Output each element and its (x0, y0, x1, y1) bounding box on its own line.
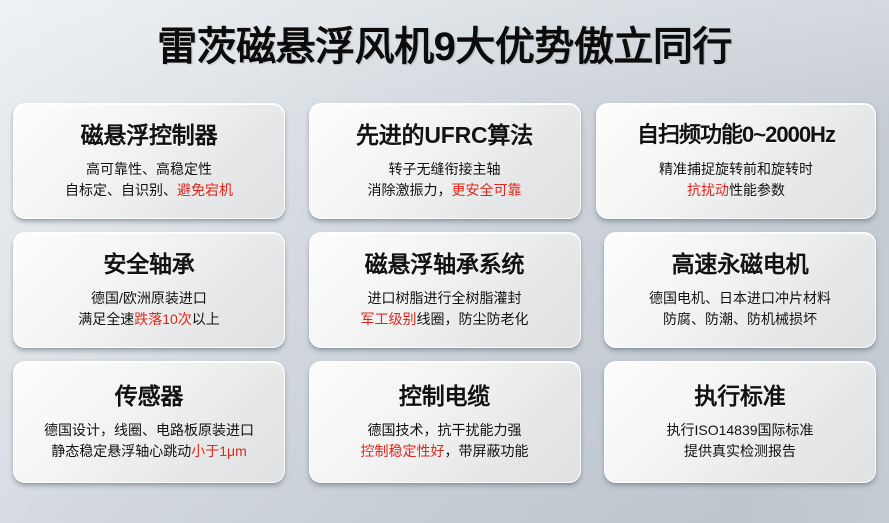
card-description-line: 高可靠性、高稳定性 (65, 159, 233, 180)
card-description-line: 德国电机、日本进口冲片材料 (649, 288, 831, 309)
card-title: 自扫频功能0~2000Hz (637, 120, 835, 150)
card-title: 先进的UFRC算法 (356, 120, 533, 150)
card-description-line: 控制稳定性好，带屏蔽功能 (361, 441, 529, 462)
card-title: 执行标准 (694, 381, 785, 411)
body-text: 性能参数 (729, 182, 785, 198)
body-text: 精准捕捉旋转前和旋转时 (659, 161, 813, 177)
card-description-line: 消除激振力，更安全可靠 (368, 180, 522, 201)
card-description: 高可靠性、高稳定性自标定、自识别、避免宕机 (65, 159, 233, 201)
body-text: 防腐、防潮、防机械损坏 (663, 311, 817, 327)
highlight-text: 抗扰动 (687, 182, 729, 198)
card-description: 执行ISO14839国际标准提供真实检测报告 (666, 420, 813, 462)
card-description: 精准捕捉旋转前和旋转时抗扰动性能参数 (659, 159, 813, 201)
card-title: 磁悬浮控制器 (81, 120, 218, 150)
highlight-text: 控制稳定性好 (361, 443, 445, 459)
card-description: 德国电机、日本进口冲片材料防腐、防潮、防机械损坏 (649, 288, 831, 330)
body-text: ，带屏蔽功能 (445, 443, 529, 459)
body-text: 德国电机、日本进口冲片材料 (649, 290, 831, 306)
advantage-card-control-cable: 控制电缆德国技术，抗干扰能力强控制稳定性好，带屏蔽功能 (309, 361, 581, 483)
advantage-card-auto-frequency-sweep: 自扫频功能0~2000Hz精准捕捉旋转前和旋转时抗扰动性能参数 (596, 103, 876, 219)
advantage-card-grid: 磁悬浮控制器高可靠性、高稳定性自标定、自识别、避免宕机先进的UFRC算法转子无缝… (13, 103, 879, 483)
body-text: 德国/欧洲原装进口 (91, 290, 207, 306)
card-description-line: 满足全速跌落10次以上 (78, 309, 220, 330)
body-text: 线圈，防尘防老化 (417, 311, 529, 327)
card-description-line: 进口树脂进行全树脂灌封 (361, 288, 529, 309)
body-text: 转子无缝衔接主轴 (389, 161, 501, 177)
body-text: 消除激振力， (368, 182, 452, 198)
advantage-card-safety-bearing: 安全轴承德国/欧洲原装进口满足全速跌落10次以上 (13, 232, 285, 348)
card-description-line: 转子无缝衔接主轴 (368, 159, 522, 180)
body-text: 静态稳定悬浮轴心跳动 (51, 443, 191, 459)
card-description-line: 防腐、防潮、防机械损坏 (649, 309, 831, 330)
card-description: 德国/欧洲原装进口满足全速跌落10次以上 (78, 288, 220, 330)
highlight-text: 更安全可靠 (452, 182, 522, 198)
card-title: 磁悬浮轴承系统 (365, 249, 525, 279)
highlight-text: 小于1μm (191, 443, 247, 459)
body-text: 进口树脂进行全树脂灌封 (368, 290, 522, 306)
body-text: 执行ISO14839国际标准 (666, 422, 813, 438)
card-description-line: 德国设计，线圈、电路板原装进口 (44, 420, 254, 441)
advantage-card-sensor: 传感器德国设计，线圈、电路板原装进口静态稳定悬浮轴心跳动小于1μm (13, 361, 285, 483)
highlight-text: 跌落10次 (134, 311, 192, 327)
advantage-card-magnetic-levitation-controller: 磁悬浮控制器高可靠性、高稳定性自标定、自识别、避免宕机 (13, 103, 285, 219)
advantage-card-high-speed-permanent-magnet-motor: 高速永磁电机德国电机、日本进口冲片材料防腐、防潮、防机械损坏 (604, 232, 876, 348)
body-text: 德国技术，抗干扰能力强 (368, 422, 522, 438)
highlight-text: 避免宕机 (177, 182, 233, 198)
body-text: 德国设计，线圈、电路板原装进口 (44, 422, 254, 438)
card-title: 安全轴承 (103, 249, 194, 279)
card-description: 德国技术，抗干扰能力强控制稳定性好，带屏蔽功能 (361, 420, 529, 462)
highlight-text: 军工级别 (361, 311, 417, 327)
card-title: 高速永磁电机 (672, 249, 809, 279)
body-text: 满足全速 (78, 311, 134, 327)
advantage-card-advanced-ufrc-algorithm: 先进的UFRC算法转子无缝衔接主轴消除激振力，更安全可靠 (309, 103, 581, 219)
card-description-line: 军工级别线圈，防尘防老化 (361, 309, 529, 330)
card-title: 传感器 (115, 381, 183, 411)
card-description-line: 精准捕捉旋转前和旋转时 (659, 159, 813, 180)
card-description: 转子无缝衔接主轴消除激振力，更安全可靠 (368, 159, 522, 201)
body-text: 高可靠性、高稳定性 (86, 161, 212, 177)
card-title: 控制电缆 (399, 381, 490, 411)
body-text: 以上 (192, 311, 220, 327)
card-description-line: 自标定、自识别、避免宕机 (65, 180, 233, 201)
card-description-line: 提供真实检测报告 (666, 441, 813, 462)
card-description-line: 德国/欧洲原装进口 (78, 288, 220, 309)
card-description-line: 静态稳定悬浮轴心跳动小于1μm (44, 441, 254, 462)
card-description-line: 德国技术，抗干扰能力强 (361, 420, 529, 441)
card-description-line: 抗扰动性能参数 (659, 180, 813, 201)
advantage-card-execution-standard: 执行标准执行ISO14839国际标准提供真实检测报告 (604, 361, 876, 483)
card-description-line: 执行ISO14839国际标准 (666, 420, 813, 441)
card-description: 进口树脂进行全树脂灌封军工级别线圈，防尘防老化 (361, 288, 529, 330)
advantages-poster: 雷茨磁悬浮风机9大优势傲立同行 磁悬浮控制器高可靠性、高稳定性自标定、自识别、避… (0, 0, 889, 523)
body-text: 自标定、自识别、 (65, 182, 177, 198)
page-title: 雷茨磁悬浮风机9大优势傲立同行 (0, 19, 889, 75)
body-text: 提供真实检测报告 (684, 443, 796, 459)
advantage-card-magnetic-bearing-system: 磁悬浮轴承系统进口树脂进行全树脂灌封军工级别线圈，防尘防老化 (309, 232, 581, 348)
card-description: 德国设计，线圈、电路板原装进口静态稳定悬浮轴心跳动小于1μm (44, 420, 254, 462)
